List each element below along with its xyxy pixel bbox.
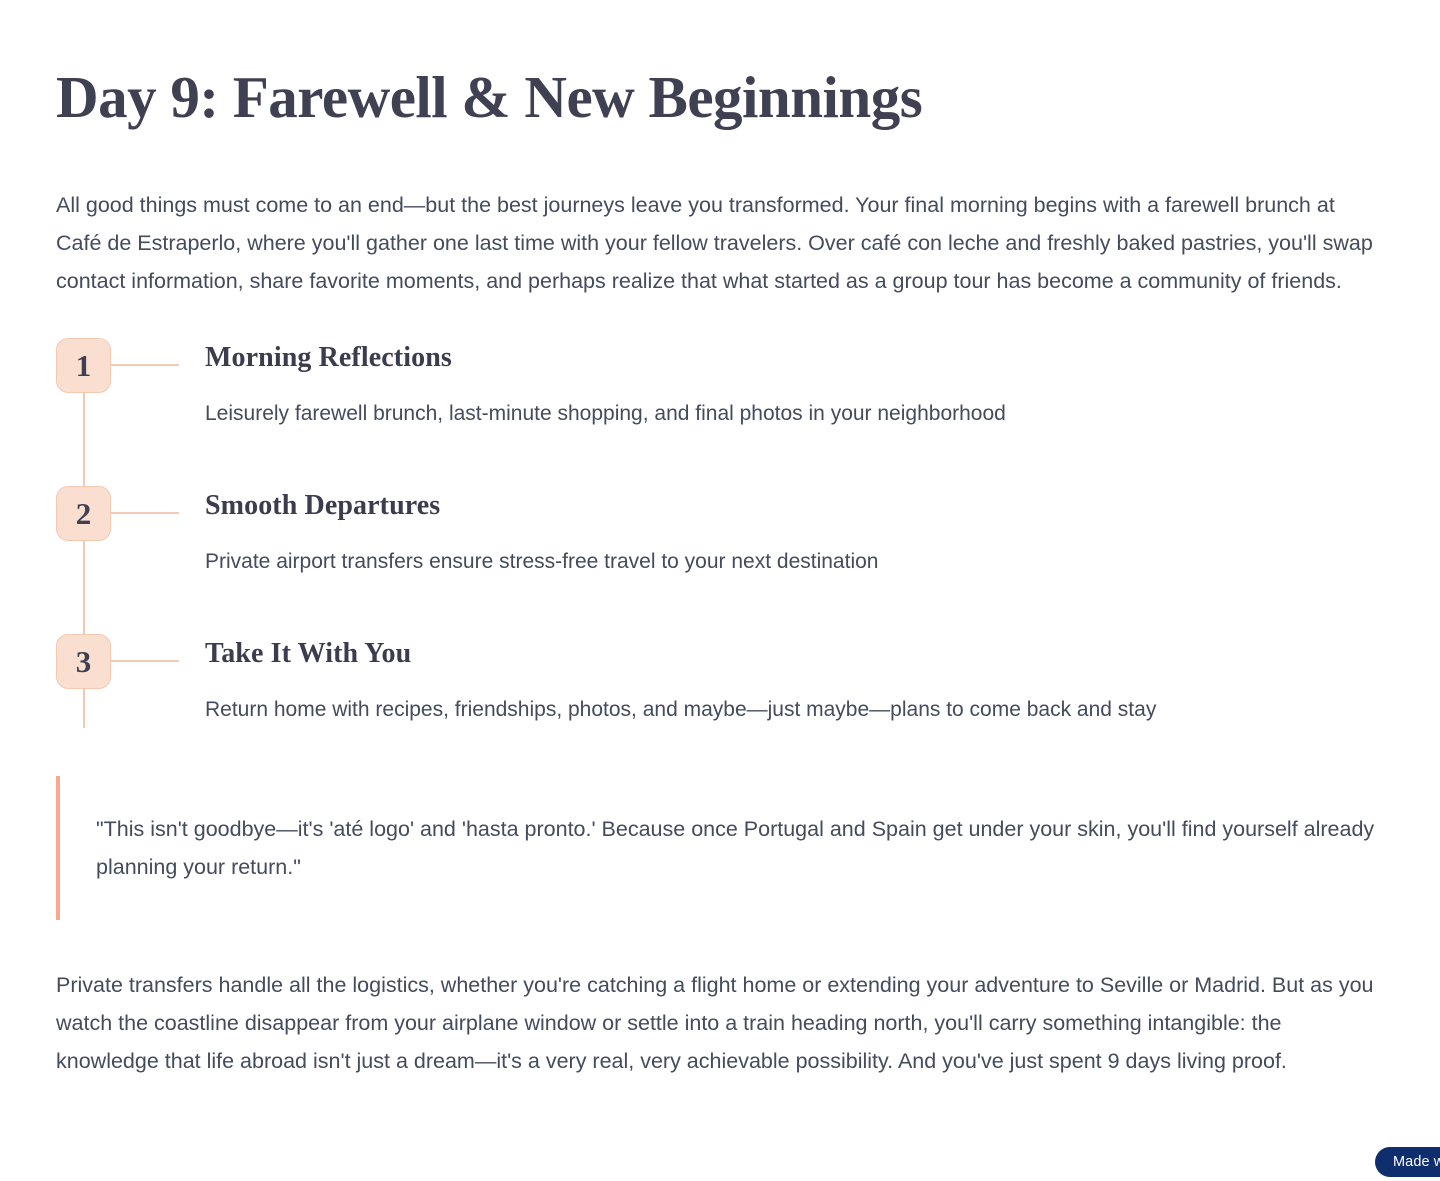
step-number-badge: 2 (56, 486, 111, 541)
step-body: Take It With You Return home with recipe… (179, 634, 1384, 726)
made-with-badge[interactable]: Made with (1375, 1147, 1440, 1177)
step-connector-line (111, 660, 179, 662)
timeline-item: 2 Smooth Departures Private airport tran… (56, 486, 1384, 634)
timeline-item: 3 Take It With You Return home with reci… (56, 634, 1384, 746)
step-title: Take It With You (205, 636, 1384, 671)
pull-quote-text: "This isn't goodbye—it's 'até logo' and … (96, 810, 1384, 886)
step-connector-line (111, 512, 179, 514)
step-connector-line (111, 364, 179, 366)
step-description: Private airport transfers ensure stress-… (205, 545, 1384, 578)
page-title: Day 9: Farewell & New Beginnings (56, 0, 1384, 130)
article-page: Day 9: Farewell & New Beginnings All goo… (0, 0, 1440, 1181)
step-number-badge: 3 (56, 634, 111, 689)
step-body: Morning Reflections Leisurely farewell b… (179, 338, 1384, 430)
step-number-badge: 1 (56, 338, 111, 393)
timeline: 1 Morning Reflections Leisurely farewell… (56, 338, 1384, 752)
timeline-item: 1 Morning Reflections Leisurely farewell… (56, 338, 1384, 486)
step-title: Smooth Departures (205, 488, 1384, 523)
step-description: Return home with recipes, friendships, p… (205, 693, 1384, 726)
outro-paragraph: Private transfers handle all the logisti… (56, 966, 1381, 1080)
step-body: Smooth Departures Private airport transf… (179, 486, 1384, 578)
step-description: Leisurely farewell brunch, last-minute s… (205, 397, 1384, 430)
step-title: Morning Reflections (205, 340, 1384, 375)
pull-quote: "This isn't goodbye—it's 'até logo' and … (56, 776, 1384, 920)
intro-paragraph: All good things must come to an end—but … (56, 186, 1381, 300)
